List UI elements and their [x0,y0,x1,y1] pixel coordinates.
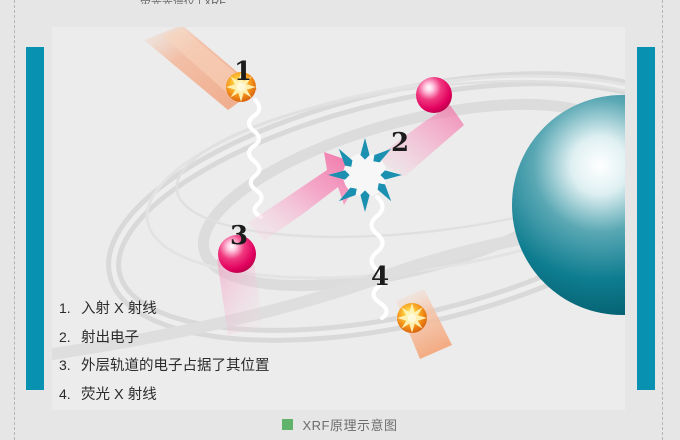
page-root: 荧光光谱仪 | XRF [0,0,680,440]
page-guide-left [14,0,15,440]
list-item: 1. 入射 X 射线 [59,301,389,317]
step-text: 射出电子 [81,331,139,346]
caption-text: XRF原理示意图 [302,415,397,434]
accent-bar-right [637,47,655,390]
step-number: 1. [59,301,81,315]
step-text: 荧光 X 射线 [81,388,157,403]
incident-wave [249,100,262,217]
fluorescent-wave [372,197,387,318]
clipped-header-text: 荧光光谱仪 | XRF [140,0,226,4]
xrf-illustration: 1 2 3 4 1. 入射 X 射线 2. 射出电子 3. 外层轨道的电子占据了… [52,27,625,410]
step-number: 2. [59,330,81,344]
marker-2: 2 [391,130,409,156]
page-guide-right [662,0,663,440]
xrf-diagram-panel: 1 2 3 4 1. 入射 X 射线 2. 射出电子 3. 外层轨道的电子占据了… [52,27,625,410]
xrf-step-list: 1. 入射 X 射线 2. 射出电子 3. 外层轨道的电子占据了其位置 4. 荧… [59,301,389,410]
marker-1: 1 [234,59,252,85]
list-item: 4. 荧光 X 射线 [59,387,389,403]
step-text: 外层轨道的电子占据了其位置 [81,359,270,374]
step-text: 入射 X 射线 [81,302,157,317]
figure-caption: XRF原理示意图 [0,415,680,434]
list-item: 2. 射出电子 [59,330,389,346]
step-number: 4. [59,387,81,401]
step-number: 3. [59,358,81,372]
caption-swatch-icon [282,419,293,430]
marker-3: 3 [230,223,248,249]
photon-fluorescent-burst [397,303,427,333]
ejected-electron-sphere [416,77,452,113]
marker-4: 4 [371,264,389,290]
accent-bar-left [26,47,44,390]
list-item: 3. 外层轨道的电子占据了其位置 [59,358,389,374]
